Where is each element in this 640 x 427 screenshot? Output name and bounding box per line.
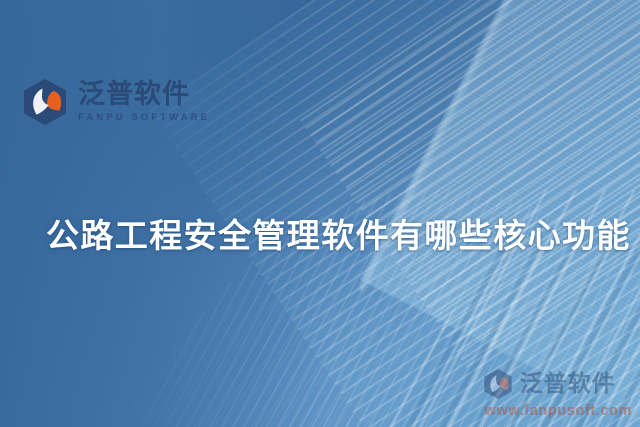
watermark-name-cn: 泛普软件: [520, 373, 616, 396]
promotional-banner: 泛普软件 FANPU SOFTWARE 公路工程安全管理软件有哪些核心功能 泛普…: [0, 0, 640, 427]
fanpu-hexagon-logo-icon: [483, 368, 513, 400]
brand-name-en: FANPU SOFTWARE: [78, 112, 210, 123]
watermark-url: www.fanpusoft.com: [485, 403, 632, 419]
brand-name-cn: 泛普软件: [78, 81, 210, 110]
fanpu-hexagon-logo-icon: [22, 78, 68, 126]
brand-logo: 泛普软件 FANPU SOFTWARE: [22, 78, 210, 126]
watermark-logo-row: 泛普软件: [483, 368, 616, 400]
brand-wordmark: 泛普软件 FANPU SOFTWARE: [78, 81, 210, 124]
watermark: 泛普软件 www.fanpusoft.com: [483, 368, 632, 419]
page-title: 公路工程安全管理软件有哪些核心功能: [46, 209, 626, 257]
